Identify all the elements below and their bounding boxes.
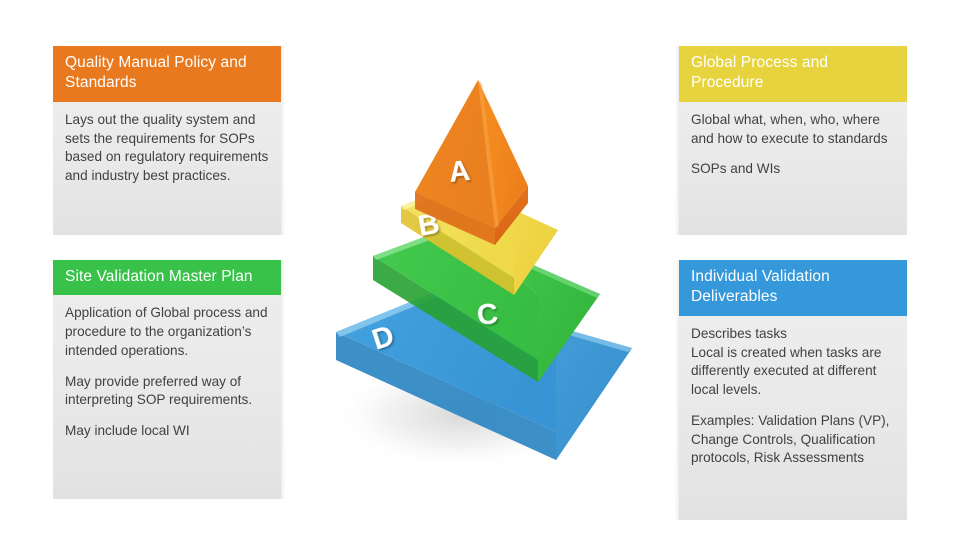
card-global-process-and-procedure[interactable]: Global Process and Procedure Global what… bbox=[679, 46, 907, 235]
card-individual-validation-deliverables[interactable]: Individual Validation Deliverables Descr… bbox=[679, 260, 907, 520]
card-quality-manual-policy-paragraph-1: Lays out the quality system and sets the… bbox=[65, 111, 269, 186]
card-site-validation-master-plan[interactable]: Site Validation Master Plan Application … bbox=[53, 260, 281, 499]
card-site-validation-master-plan-paragraph-2: May provide preferred way of interpretin… bbox=[65, 373, 269, 411]
card-individual-validation-deliverables-paragraph-1: Describes tasks Local is created when ta… bbox=[691, 325, 895, 400]
pyramid-diagram[interactable]: D C B A bbox=[310, 60, 660, 490]
card-global-process-and-procedure-title: Global Process and Procedure bbox=[691, 54, 828, 91]
card-individual-validation-deliverables-title: Individual Validation Deliverables bbox=[691, 268, 830, 305]
card-site-validation-master-plan-paragraph-3: May include local WI bbox=[65, 422, 269, 441]
card-site-validation-master-plan-header: Site Validation Master Plan bbox=[53, 260, 281, 295]
pyramid-tier-c-letter: C bbox=[475, 298, 499, 332]
card-global-process-and-procedure-paragraph-1: Global what, when, who, where and how to… bbox=[691, 111, 895, 149]
card-site-validation-master-plan-title: Site Validation Master Plan bbox=[65, 268, 253, 285]
card-individual-validation-deliverables-header: Individual Validation Deliverables bbox=[679, 260, 907, 316]
card-global-process-and-procedure-body: Global what, when, who, where and how to… bbox=[679, 102, 907, 235]
card-individual-validation-deliverables-paragraph-2: Examples: Validation Plans (VP), Change … bbox=[691, 412, 895, 468]
pyramid-tier-a-letter: A bbox=[447, 155, 471, 189]
card-quality-manual-policy[interactable]: Quality Manual Policy and Standards Lays… bbox=[53, 46, 281, 235]
card-site-validation-master-plan-paragraph-1: Application of Global process and proced… bbox=[65, 304, 269, 360]
card-quality-manual-policy-header: Quality Manual Policy and Standards bbox=[53, 46, 281, 102]
card-edge-shadow bbox=[281, 46, 285, 235]
card-global-process-and-procedure-header: Global Process and Procedure bbox=[679, 46, 907, 102]
card-global-process-and-procedure-paragraph-2: SOPs and WIs bbox=[691, 160, 895, 179]
card-quality-manual-policy-title: Quality Manual Policy and Standards bbox=[65, 54, 247, 91]
card-edge-shadow bbox=[281, 260, 285, 499]
card-quality-manual-policy-body: Lays out the quality system and sets the… bbox=[53, 102, 281, 235]
card-site-validation-master-plan-body: Application of Global process and proced… bbox=[53, 295, 281, 499]
card-individual-validation-deliverables-body: Describes tasks Local is created when ta… bbox=[679, 316, 907, 520]
pyramid-svg: D C B A bbox=[310, 60, 660, 490]
